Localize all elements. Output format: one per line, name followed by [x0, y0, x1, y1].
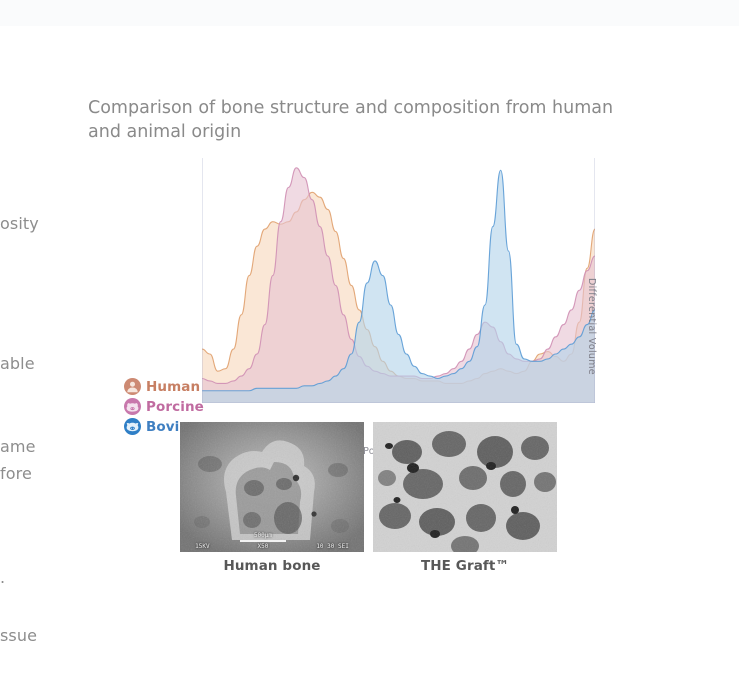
- gutter-text-fragment: osity: [0, 214, 39, 234]
- micrograph-human-bone[interactable]: 15KV 500µm X50 10 30 SEI: [180, 422, 364, 552]
- gutter-text-fragment: fore: [0, 464, 32, 484]
- distribution-curves: [202, 158, 595, 403]
- legend-item-porcine[interactable]: Porcine: [124, 398, 204, 415]
- gutter-text-fragment: able: [0, 354, 35, 374]
- legend-label-human: Human: [146, 379, 200, 395]
- figure-title: Comparison of bone structure and composi…: [88, 96, 623, 144]
- gutter-text-fragment: ame: [0, 437, 36, 457]
- plot-area: [202, 158, 595, 403]
- caption-human-bone: Human bone: [180, 558, 364, 574]
- legend-label-porcine: Porcine: [146, 399, 204, 415]
- pig-icon: [124, 398, 141, 415]
- micrograph-the-graft[interactable]: [373, 422, 557, 552]
- gutter-text-fragment: .: [0, 568, 5, 588]
- caption-the-graft: THE Graft™: [373, 558, 557, 574]
- cow-icon: [124, 418, 141, 435]
- person-icon: [124, 378, 141, 395]
- caption-row: Human bone THE Graft™: [180, 558, 557, 574]
- legend-item-human[interactable]: Human: [124, 378, 204, 395]
- pore-distribution-chart: Human Porcine: [91, 150, 621, 410]
- gutter-text-fragment: ssue: [0, 626, 37, 646]
- bone-comparison-figure: Comparison of bone structure and composi…: [88, 96, 648, 410]
- y-axis-label: Differential Volume: [586, 278, 597, 375]
- page-top-band: [0, 0, 739, 26]
- micrograph-row: 15KV 500µm X50 10 30 SEI: [180, 422, 557, 552]
